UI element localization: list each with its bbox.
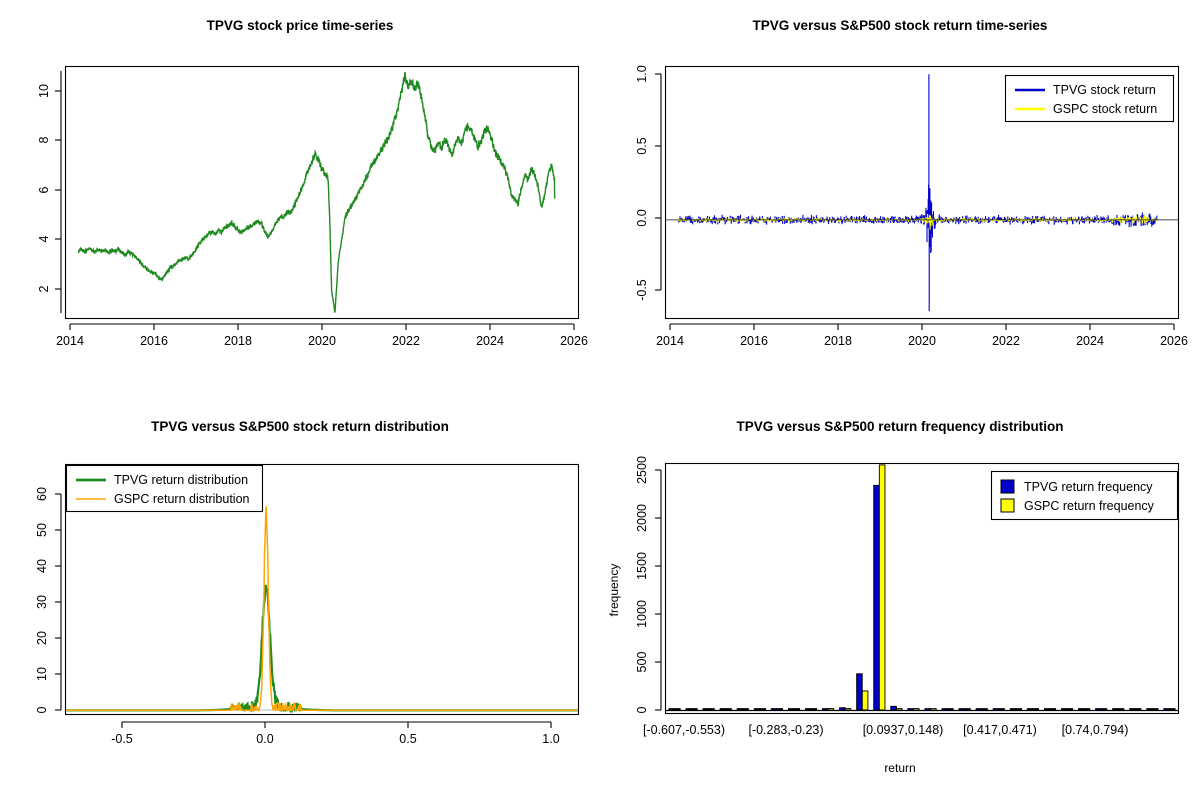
- panel-title: TPVG stock price time-series: [207, 18, 394, 33]
- panel-return-timeseries-svg: TPVG versus S&P500 stock return time-ser…: [600, 0, 1200, 400]
- bar: [760, 709, 766, 710]
- y-tick-label: 0: [635, 706, 649, 713]
- x-axis: 2014 2016 2018 2020 2022 2024 2026: [56, 324, 588, 348]
- x-tick-label: 2018: [824, 334, 852, 348]
- bar: [1118, 709, 1124, 710]
- bar: [823, 709, 829, 710]
- y-tick-label: 8: [37, 136, 51, 143]
- panel-return-frequency-svg: TPVG versus S&P500 return frequency dist…: [600, 400, 1200, 800]
- bar: [959, 709, 965, 710]
- y-tick-label: 0.5: [635, 137, 649, 154]
- bar: [948, 709, 954, 710]
- bar: [1135, 709, 1141, 710]
- bar: [857, 674, 863, 710]
- bar: [993, 709, 999, 710]
- bar: [686, 709, 692, 710]
- y-tick-label: 4: [37, 235, 51, 242]
- y-tick-label: 10: [37, 84, 51, 98]
- x-axis-title: return: [884, 761, 915, 775]
- bar: [669, 709, 675, 710]
- x-tick-label: 0.5: [399, 732, 416, 746]
- x-tick-label: 2022: [392, 334, 420, 348]
- bar: [1050, 709, 1056, 710]
- bar: [913, 709, 919, 710]
- y-tick-group: 2 4 6 8 10: [37, 84, 61, 292]
- y-tick-group: 0 10 20 30 40 50 60: [35, 487, 61, 713]
- x-axis: [-0.607,-0.553) [-0.283,-0.23) [0.0937,0…: [643, 723, 1128, 775]
- bar: [1147, 709, 1153, 710]
- bar: [771, 709, 777, 710]
- y-tick-label: 0: [35, 706, 49, 713]
- x-tick-label: [-0.607,-0.553): [643, 723, 725, 737]
- legend-label-tpvg: TPVG return distribution: [114, 473, 248, 487]
- bar: [1079, 709, 1085, 710]
- x-tick-label: 2020: [308, 334, 336, 348]
- panel-return-distribution: TPVG versus S&P500 stock return distribu…: [0, 400, 600, 800]
- bar: [976, 709, 982, 710]
- x-tick-label: 2024: [1076, 334, 1104, 348]
- legend-label-tpvg: TPVG stock return: [1053, 83, 1156, 97]
- bar: [891, 706, 897, 710]
- panel-title: TPVG versus S&P500 stock return distribu…: [151, 419, 449, 434]
- panel-return-frequency: TPVG versus S&P500 return frequency dist…: [600, 400, 1200, 800]
- x-tick-group: -0.5 0.0 0.5 1.0: [111, 722, 560, 746]
- x-tick-label: -0.5: [111, 732, 133, 746]
- x-tick-label: [0.417,0.471): [963, 723, 1037, 737]
- legend-label-gspc: GSPC stock return: [1053, 102, 1157, 116]
- bar: [703, 709, 709, 710]
- y-tick-label: 30: [35, 595, 49, 609]
- plot-box: [66, 67, 579, 319]
- bar: [675, 709, 681, 710]
- x-tick-group: 2014 2016 2018 2020 2022 2024 2026: [656, 324, 1188, 348]
- x-tick-label: 2026: [560, 334, 588, 348]
- y-tick-label: 2500: [635, 456, 649, 484]
- bar: [1033, 709, 1039, 710]
- bar: [1016, 709, 1022, 710]
- bar: [811, 709, 817, 710]
- bar: [982, 709, 988, 710]
- bar: [1044, 709, 1050, 710]
- bar: [931, 709, 937, 710]
- x-tick-label: 2014: [656, 334, 684, 348]
- x-tick-label: 0.0: [256, 732, 273, 746]
- figure-root: TPVG stock price time-series 2 4 6 8 10 …: [0, 0, 1200, 800]
- x-tick-label: [0.0937,0.148): [863, 723, 944, 737]
- bar: [794, 709, 800, 710]
- bar: [720, 709, 726, 710]
- y-tick-group: -0.5 0.0 0.5 1.0: [635, 65, 661, 301]
- legend-swatch-gspc-square: [1001, 499, 1014, 512]
- legend-label-gspc: GSPC return distribution: [114, 492, 250, 506]
- y-axis: 0 500 1000 1500 2000 2500 frequency: [607, 456, 661, 713]
- bar: [1164, 709, 1170, 710]
- bar: [828, 709, 834, 710]
- bar: [754, 709, 760, 710]
- x-axis: 2014 2016 2018 2020 2022 2024 2026: [656, 324, 1188, 348]
- y-tick-label: 1000: [635, 600, 649, 628]
- bar: [1113, 709, 1119, 710]
- x-tick-label: 2026: [1160, 334, 1188, 348]
- bar: [1010, 709, 1016, 710]
- y-tick-label: 40: [35, 559, 49, 573]
- gspc-density-line: [66, 506, 578, 710]
- bar: [1027, 709, 1033, 710]
- panel-title: TPVG versus S&P500 return frequency dist…: [736, 419, 1063, 434]
- bar: [1084, 709, 1090, 710]
- y-tick-label: 2000: [635, 504, 649, 532]
- bar: [925, 709, 931, 710]
- bar: [862, 691, 868, 710]
- bar: [1101, 709, 1107, 710]
- panel-tpvg-price-timeseries: TPVG stock price time-series 2 4 6 8 10 …: [0, 0, 600, 400]
- x-tick-label: [0.74,0.794): [1062, 723, 1129, 737]
- y-tick-label: 0.0: [635, 209, 649, 226]
- bar: [1130, 709, 1136, 710]
- bar: [805, 709, 811, 710]
- y-tick-label: 500: [635, 652, 649, 673]
- x-tick-label: 2014: [56, 334, 84, 348]
- bar: [845, 709, 851, 710]
- bar: [1067, 709, 1073, 710]
- panel-return-timeseries: TPVG versus S&P500 stock return time-ser…: [600, 0, 1200, 400]
- panel-return-distribution-svg: TPVG versus S&P500 stock return distribu…: [0, 400, 600, 800]
- legend: TPVG stock return GSPC stock return: [1006, 76, 1174, 122]
- x-tick-label: 2018: [224, 334, 252, 348]
- legend-label-gspc: GSPC return frequency: [1024, 499, 1155, 513]
- bar: [726, 709, 732, 710]
- bar: [788, 709, 794, 710]
- y-tick-label: 2: [37, 285, 51, 292]
- y-axis: -0.5 0.0 0.5 1.0: [635, 65, 661, 301]
- x-tick-label: 1.0: [542, 732, 559, 746]
- price-series-group: [79, 72, 555, 313]
- bar: [942, 709, 948, 710]
- y-tick-label: 60: [35, 487, 49, 501]
- bar: [737, 709, 743, 710]
- x-tick-label: 2016: [740, 334, 768, 348]
- bar: [743, 709, 749, 710]
- y-axis-title: frequency: [607, 564, 621, 617]
- y-tick-label: 50: [35, 523, 49, 537]
- bar: [777, 709, 783, 710]
- tpvg-price-line: [79, 72, 555, 313]
- y-tick-label: 1500: [635, 552, 649, 580]
- legend-swatch-tpvg-square: [1001, 480, 1014, 493]
- bar: [840, 708, 846, 710]
- bar: [692, 709, 698, 710]
- bar: [1096, 709, 1102, 710]
- y-tick-label: 20: [35, 631, 49, 645]
- x-tick-label: 2016: [140, 334, 168, 348]
- bar: [709, 709, 715, 710]
- y-tick-label: 6: [37, 186, 51, 193]
- legend: TPVG return distribution GSPC return dis…: [67, 466, 263, 512]
- y-tick-label: 1.0: [635, 65, 649, 82]
- legend-label-tpvg: TPVG return frequency: [1024, 480, 1153, 494]
- bar: [896, 709, 902, 710]
- y-tick-label: 10: [35, 667, 49, 681]
- bar: [965, 709, 971, 710]
- x-tick-group: 2014 2016 2018 2020 2022 2024 2026: [56, 324, 588, 348]
- y-axis: 2 4 6 8 10: [37, 71, 61, 313]
- legend: TPVG return frequency GSPC return freque…: [992, 472, 1178, 520]
- tpvg-density-line: [66, 585, 578, 711]
- x-tick-label: [-0.283,-0.23): [748, 723, 823, 737]
- bar: [908, 709, 914, 710]
- y-tick-label: -0.5: [635, 279, 649, 301]
- x-axis: -0.5 0.0 0.5 1.0: [111, 722, 560, 746]
- bar: [999, 709, 1005, 710]
- bar: [879, 465, 885, 710]
- y-tick-group: 0 500 1000 1500 2000 2500: [635, 456, 661, 713]
- panel-tpvg-price-svg: TPVG stock price time-series 2 4 6 8 10 …: [0, 0, 600, 400]
- bar: [1169, 709, 1175, 710]
- x-tick-label: 2020: [908, 334, 936, 348]
- bar: [874, 485, 880, 710]
- density-series-group: [66, 506, 578, 710]
- x-tick-label: 2022: [992, 334, 1020, 348]
- bar: [1152, 709, 1158, 710]
- y-axis: 0 10 20 30 40 50 60: [35, 487, 61, 713]
- x-tick-label: 2024: [476, 334, 504, 348]
- panel-title: TPVG versus S&P500 stock return time-ser…: [753, 18, 1048, 33]
- bar: [1061, 709, 1067, 710]
